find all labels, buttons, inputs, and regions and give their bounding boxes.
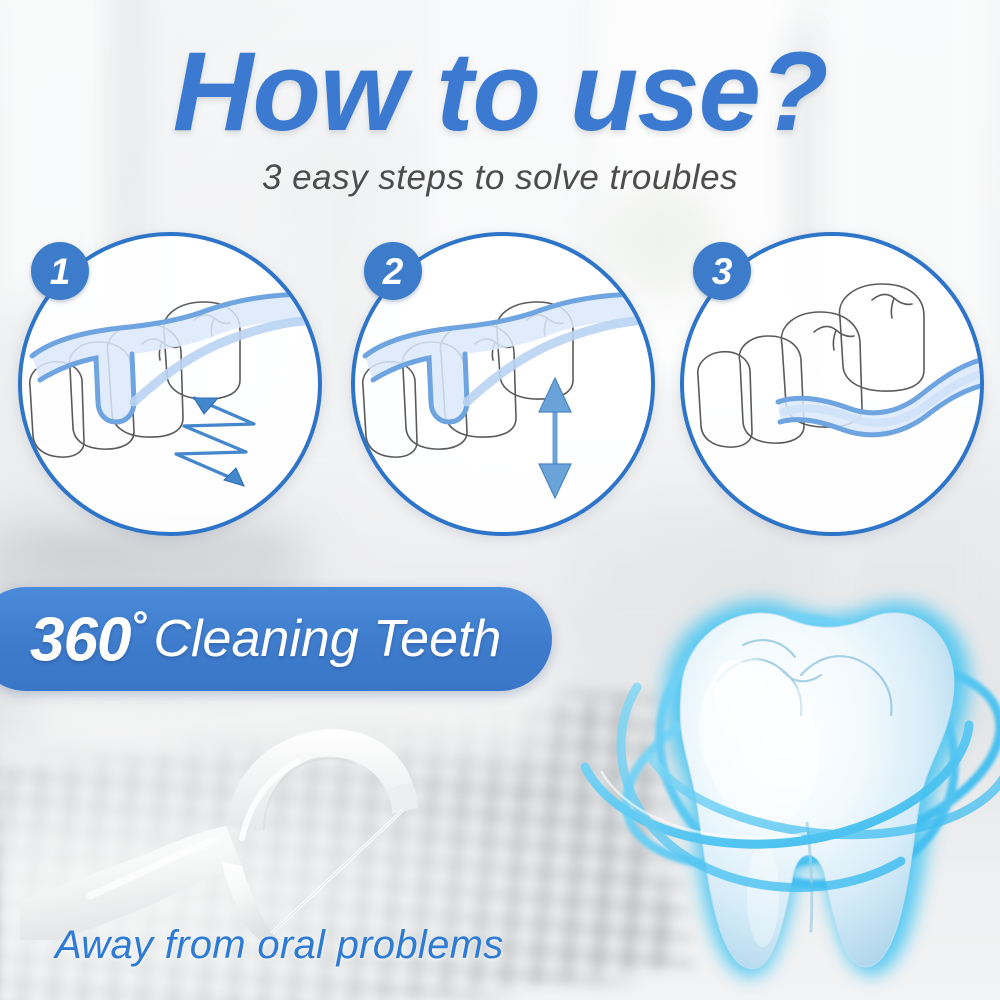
floss-pick-product-photo (20, 690, 480, 940)
infographic-canvas: How to use? 3 easy steps to solve troubl… (0, 0, 1000, 1000)
cleaning-banner: 360° Cleaning Teeth (0, 587, 552, 691)
banner-label: Cleaning Teeth (153, 613, 501, 665)
floss-pick-shape (365, 294, 647, 422)
banner-degrees: 360° (30, 606, 145, 672)
degree-symbol: ° (130, 604, 145, 648)
vertical-double-arrow-icon (539, 378, 571, 498)
zigzag-double-arrow-icon (176, 398, 254, 480)
tagline: Away from oral problems (55, 925, 575, 965)
step-badge-3: 3 (693, 242, 751, 300)
floss-pick-shape (778, 360, 980, 435)
step-badge-1: 1 (31, 242, 89, 300)
tooth-graphic (545, 565, 1000, 995)
step-badge-2: 2 (364, 242, 422, 300)
floss-pick-shape (32, 294, 314, 422)
